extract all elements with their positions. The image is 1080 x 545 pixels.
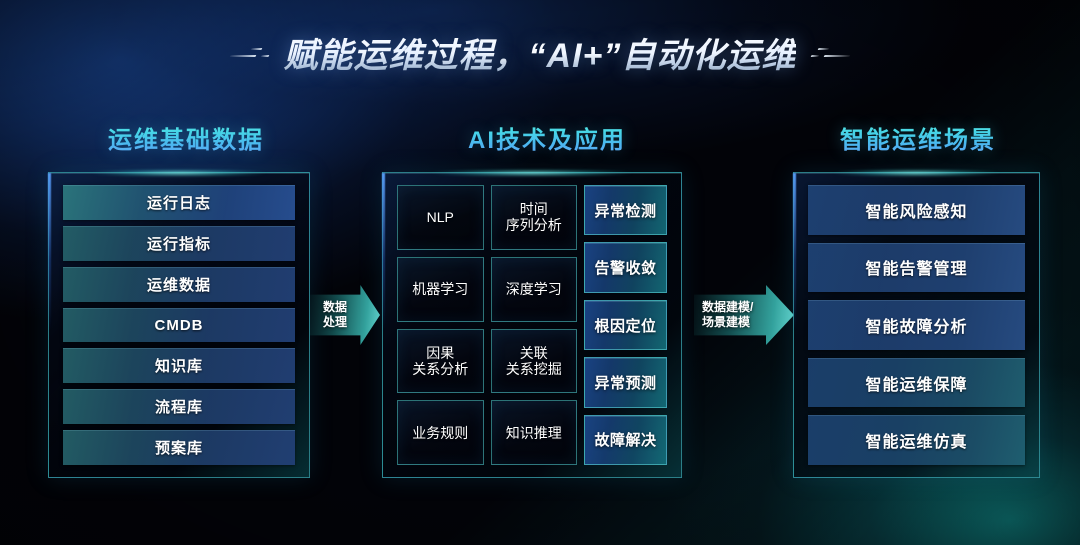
- column-heading-foundation-data: 运维基础数据: [108, 120, 264, 155]
- list-item[interactable]: 智能故障分析: [808, 300, 1025, 350]
- panel-ai-technology: NLP 时间 序列分析 机器学习 深度学习 因果 关系分析 关联 关系挖掘 业务…: [382, 172, 682, 478]
- tech-cell[interactable]: 关联 关系挖掘: [491, 329, 578, 394]
- capability-cell[interactable]: 异常检测: [584, 185, 667, 235]
- slide-canvas: 赋能运维过程，“AI+”自动化运维 运维基础数据 AI技术及应用 智能运维场景 …: [0, 0, 1080, 545]
- list-item[interactable]: 运维数据: [63, 267, 295, 302]
- list-item[interactable]: 智能风险感知: [808, 185, 1025, 235]
- ai-technology-layout: NLP 时间 序列分析 机器学习 深度学习 因果 关系分析 关联 关系挖掘 业务…: [397, 185, 667, 465]
- tech-cell[interactable]: 知识推理: [491, 400, 578, 465]
- tech-cell[interactable]: 时间 序列分析: [491, 185, 578, 250]
- capability-cell[interactable]: 告警收敛: [584, 242, 667, 292]
- panel-aiops-scenarios-body: 智能风险感知 智能告警管理 智能故障分析 智能运维保障 智能运维仿真: [794, 173, 1039, 477]
- spark-right-icon: [808, 39, 850, 65]
- column-heading-aiops-scenarios: 智能运维场景: [840, 120, 996, 155]
- flow-arrow-data-processing: 数据 处理: [310, 285, 380, 345]
- list-item[interactable]: 智能告警管理: [808, 243, 1025, 293]
- ai-technology-grid: NLP 时间 序列分析 机器学习 深度学习 因果 关系分析 关联 关系挖掘 业务…: [397, 185, 577, 465]
- capability-cell[interactable]: 根因定位: [584, 300, 667, 350]
- list-item[interactable]: 智能运维仿真: [808, 415, 1025, 465]
- list-item[interactable]: 运行日志: [63, 185, 295, 220]
- panel-aiops-scenarios: 智能风险感知 智能告警管理 智能故障分析 智能运维保障 智能运维仿真: [793, 172, 1040, 478]
- capability-cell[interactable]: 故障解决: [584, 415, 667, 465]
- panel-ai-technology-body: NLP 时间 序列分析 机器学习 深度学习 因果 关系分析 关联 关系挖掘 业务…: [383, 173, 681, 477]
- list-item[interactable]: CMDB: [63, 308, 295, 343]
- panel-foundation-data-body: 运行日志 运行指标 运维数据 CMDB 知识库 流程库 预案库: [49, 173, 309, 477]
- foundation-data-list: 运行日志 运行指标 运维数据 CMDB 知识库 流程库 预案库: [63, 185, 295, 465]
- tech-cell[interactable]: 深度学习: [491, 257, 578, 322]
- tech-cell[interactable]: 机器学习: [397, 257, 484, 322]
- list-item[interactable]: 运行指标: [63, 226, 295, 261]
- tech-cell[interactable]: NLP: [397, 185, 484, 250]
- flow-arrow-data-and-scenario-modeling: 数据建模/ 场景建模: [694, 285, 794, 345]
- list-item[interactable]: 智能运维保障: [808, 358, 1025, 408]
- spark-left-icon: [230, 39, 272, 65]
- tech-cell[interactable]: 业务规则: [397, 400, 484, 465]
- column-heading-ai-technology: AI技术及应用: [468, 120, 626, 155]
- panel-foundation-data: 运行日志 运行指标 运维数据 CMDB 知识库 流程库 预案库: [48, 172, 310, 478]
- list-item[interactable]: 知识库: [63, 348, 295, 383]
- ai-capability-list: 异常检测 告警收敛 根因定位 异常预测 故障解决: [584, 185, 667, 465]
- aiops-scenario-list: 智能风险感知 智能告警管理 智能故障分析 智能运维保障 智能运维仿真: [808, 185, 1025, 465]
- tech-cell[interactable]: 因果 关系分析: [397, 329, 484, 394]
- list-item[interactable]: 预案库: [63, 430, 295, 465]
- slide-title-row: 赋能运维过程，“AI+”自动化运维: [0, 26, 1080, 78]
- capability-cell[interactable]: 异常预测: [584, 357, 667, 407]
- page-title: 赋能运维过程，“AI+”自动化运维: [284, 28, 797, 77]
- list-item[interactable]: 流程库: [63, 389, 295, 424]
